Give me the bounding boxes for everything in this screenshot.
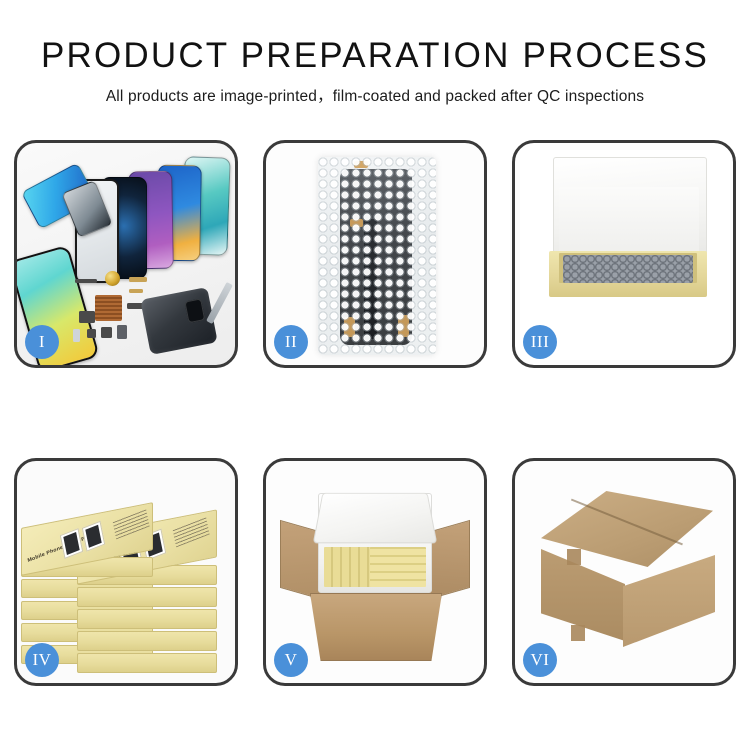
process-step-panel-1: I <box>14 140 238 368</box>
carton-front-panel <box>310 593 442 661</box>
bubble-wrap-contents <box>563 255 693 283</box>
process-step-panel-3: III <box>512 140 736 368</box>
camera-module-part <box>101 327 112 338</box>
carton-tape-upper <box>567 549 581 565</box>
stacked-box <box>77 587 217 607</box>
connector-part <box>79 311 95 323</box>
small-component-part <box>87 329 96 338</box>
stacked-box <box>77 609 217 629</box>
process-step-panel-5: V <box>263 458 487 686</box>
step-badge-6: VI <box>523 643 557 677</box>
header: PRODUCT PREPARATION PROCESS All products… <box>0 38 750 106</box>
product-preparation-infographic: PRODUCT PREPARATION PROCESS All products… <box>0 0 750 750</box>
flex-cable-part <box>75 279 97 283</box>
flex-cable-gold-part <box>129 277 147 282</box>
page-subtitle: All products are image-printed，film-coat… <box>0 84 750 106</box>
vibration-motor-part <box>117 325 127 339</box>
step-badge-4: IV <box>25 643 59 677</box>
step-badge-3: III <box>523 325 557 359</box>
foam-box-lid <box>313 493 437 543</box>
sim-tray-part <box>73 329 80 342</box>
stacked-box <box>77 653 217 673</box>
box-spec-lines <box>112 508 149 540</box>
speaker-coil-part <box>105 271 120 286</box>
carton-tape-lower <box>571 625 585 641</box>
bubble-texture <box>318 157 436 355</box>
stacked-box <box>77 631 217 651</box>
foam-sheet <box>559 187 699 259</box>
box-spec-lines <box>172 516 209 548</box>
process-step-panel-6: VI <box>512 458 736 686</box>
page-title: PRODUCT PREPARATION PROCESS <box>0 38 750 75</box>
step-badge-1: I <box>25 325 59 359</box>
yellow-boxes-row-2 <box>370 547 426 587</box>
camera-cutout <box>184 298 205 323</box>
process-steps-grid: I II <box>14 140 736 686</box>
chip-grid-part <box>95 295 122 321</box>
carton-right-face <box>623 555 715 647</box>
bubble-wrap-bag <box>318 157 436 355</box>
step-badge-5: V <box>274 643 308 677</box>
box-product-photo <box>82 521 105 552</box>
process-step-panel-4: Mobile Phone Spare Parts Mobile Phone Sp… <box>14 458 238 686</box>
process-step-panel-2: II <box>263 140 487 368</box>
box-product-photo <box>60 528 83 559</box>
step-badge-2: II <box>274 325 308 359</box>
flex-cable-gold-part-2 <box>129 289 143 293</box>
